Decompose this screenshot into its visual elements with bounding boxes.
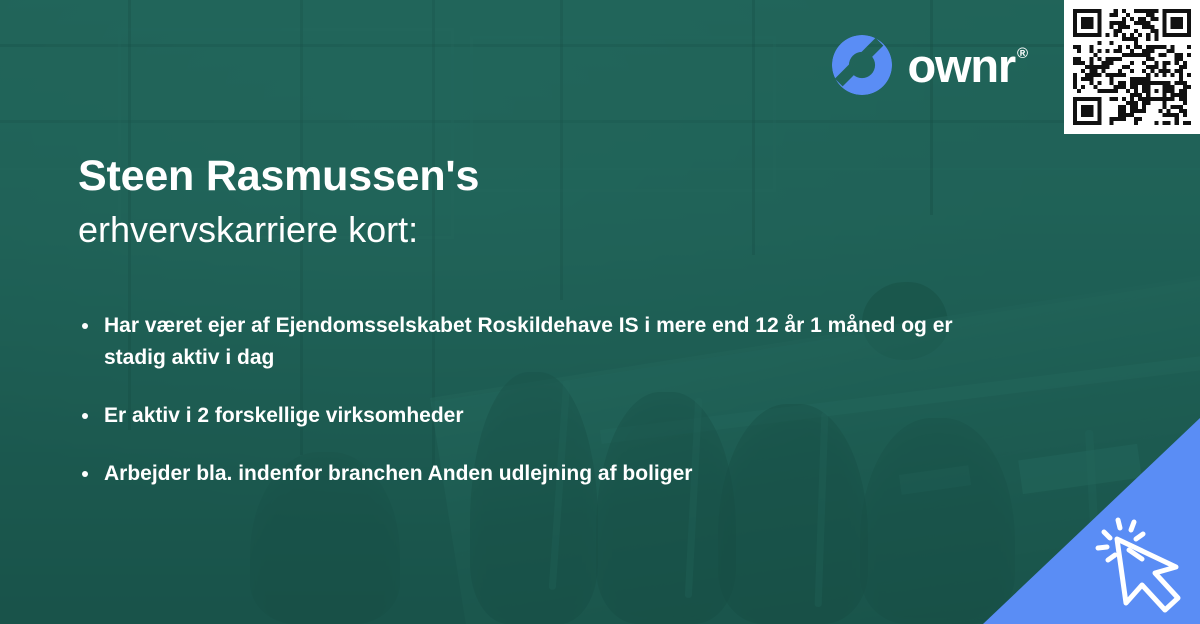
headline-line-1: Steen Rasmussen's bbox=[78, 152, 958, 202]
qr-code bbox=[1073, 9, 1191, 125]
list-item: Er aktiv i 2 forskellige virksomheder bbox=[78, 400, 978, 432]
registered-trademark-symbol: ® bbox=[1017, 46, 1028, 61]
list-item: Arbejder bla. indenfor branchen Anden ud… bbox=[78, 458, 978, 490]
business-card-graphic: ownr ® Steen Rasmussen's erhvervskarrier… bbox=[0, 0, 1200, 624]
card-content: ownr ® Steen Rasmussen's erhvervskarrier… bbox=[0, 0, 1200, 624]
click-cursor-icon bbox=[1086, 506, 1196, 618]
page-title: Steen Rasmussen's erhvervskarriere kort: bbox=[78, 152, 958, 252]
ownr-wordmark: ownr ® bbox=[907, 42, 1028, 89]
list-item: Har været ejer af Ejendomsselskabet Rosk… bbox=[78, 310, 978, 374]
ownr-wordmark-text: ownr bbox=[907, 42, 1014, 89]
headline-line-2: erhvervskarriere kort: bbox=[78, 208, 958, 252]
ownr-logo[interactable]: ownr ® bbox=[831, 34, 1028, 96]
career-facts-list: Har været ejer af Ejendomsselskabet Rosk… bbox=[78, 310, 978, 490]
ownr-circle-swirl-logo-icon bbox=[831, 34, 893, 96]
qr-code-panel[interactable] bbox=[1064, 0, 1200, 134]
